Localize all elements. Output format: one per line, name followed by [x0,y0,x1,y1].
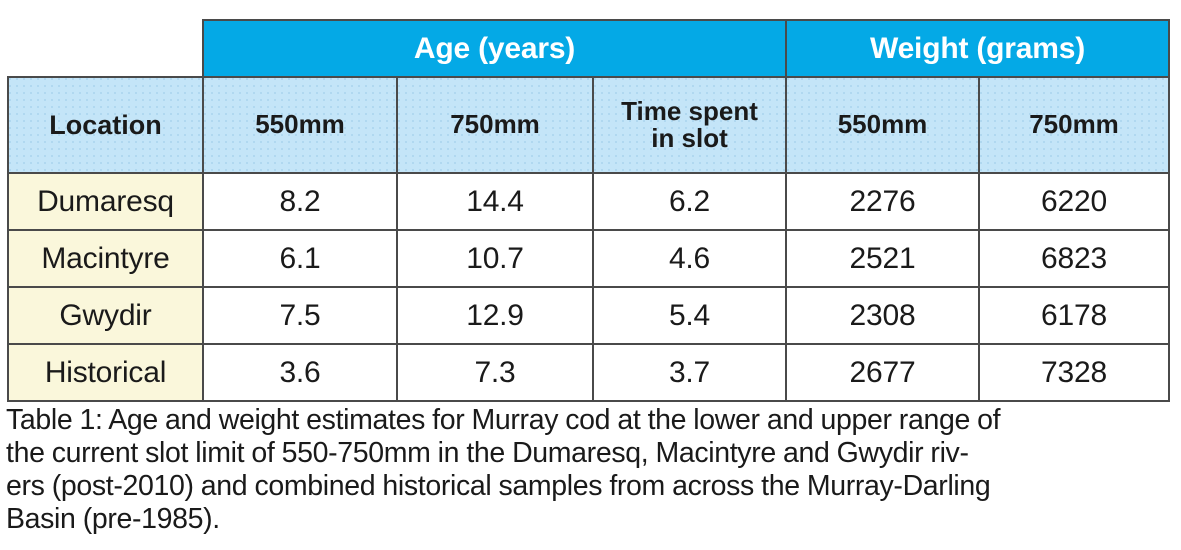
cell-age-750mm: 7.3 [397,344,593,401]
table-row: Gwydir 7.5 12.9 5.4 2308 6178 [8,287,1169,344]
cell-age-750mm: 14.4 [397,173,593,230]
table-row: Macintyre 6.1 10.7 4.6 2521 6823 [8,230,1169,287]
caption-line-1: Table 1: Age and weight estimates for Mu… [6,404,1178,437]
cell-weight-550mm: 2677 [786,344,979,401]
cell-age-550mm: 3.6 [203,344,397,401]
header-spacer-cell [8,20,203,77]
table-caption: Table 1: Age and weight estimates for Mu… [6,404,1178,536]
caption-line-2: the current slot limit of 550-750mm in t… [6,437,1178,470]
group-header-row: Age (years) Weight (grams) [8,20,1169,77]
age-weight-table: Age (years) Weight (grams) Location 550m… [7,19,1170,402]
table-row: Dumaresq 8.2 14.4 6.2 2276 6220 [8,173,1169,230]
cell-time-in-slot: 3.7 [593,344,786,401]
group-header-age: Age (years) [203,20,786,77]
column-header-row: Location 550mm 750mm Time spent in slot … [8,77,1169,173]
column-header-time-in-slot-line2: in slot [594,125,785,152]
column-header-time-in-slot: Time spent in slot [593,77,786,173]
cell-location: Dumaresq [8,173,203,230]
cell-time-in-slot: 5.4 [593,287,786,344]
column-header-location: Location [8,77,203,173]
cell-age-750mm: 10.7 [397,230,593,287]
cell-weight-750mm: 6178 [979,287,1169,344]
table-body: Dumaresq 8.2 14.4 6.2 2276 6220 Macintyr… [8,173,1169,401]
table-container: Age (years) Weight (grams) Location 550m… [7,19,1168,402]
cell-weight-750mm: 7328 [979,344,1169,401]
cell-age-550mm: 7.5 [203,287,397,344]
column-header-weight-550mm: 550mm [786,77,979,173]
cell-time-in-slot: 4.6 [593,230,786,287]
cell-weight-750mm: 6823 [979,230,1169,287]
cell-age-550mm: 8.2 [203,173,397,230]
column-header-time-in-slot-line1: Time spent [594,98,785,125]
cell-location: Gwydir [8,287,203,344]
group-header-weight: Weight (grams) [786,20,1169,77]
table-row: Historical 3.6 7.3 3.7 2677 7328 [8,344,1169,401]
cell-weight-550mm: 2276 [786,173,979,230]
caption-line-3: ers (post-2010) and combined historical … [6,470,1178,503]
cell-weight-550mm: 2308 [786,287,979,344]
table-figure-page: Age (years) Weight (grams) Location 550m… [0,0,1181,550]
cell-time-in-slot: 6.2 [593,173,786,230]
cell-location: Macintyre [8,230,203,287]
cell-weight-550mm: 2521 [786,230,979,287]
cell-location: Historical [8,344,203,401]
column-header-age-550mm: 550mm [203,77,397,173]
cell-weight-750mm: 6220 [979,173,1169,230]
column-header-weight-750mm: 750mm [979,77,1169,173]
cell-age-750mm: 12.9 [397,287,593,344]
cell-age-550mm: 6.1 [203,230,397,287]
column-header-age-750mm: 750mm [397,77,593,173]
caption-line-4: Basin (pre-1985). [6,503,1178,536]
table-head: Age (years) Weight (grams) Location 550m… [8,20,1169,173]
